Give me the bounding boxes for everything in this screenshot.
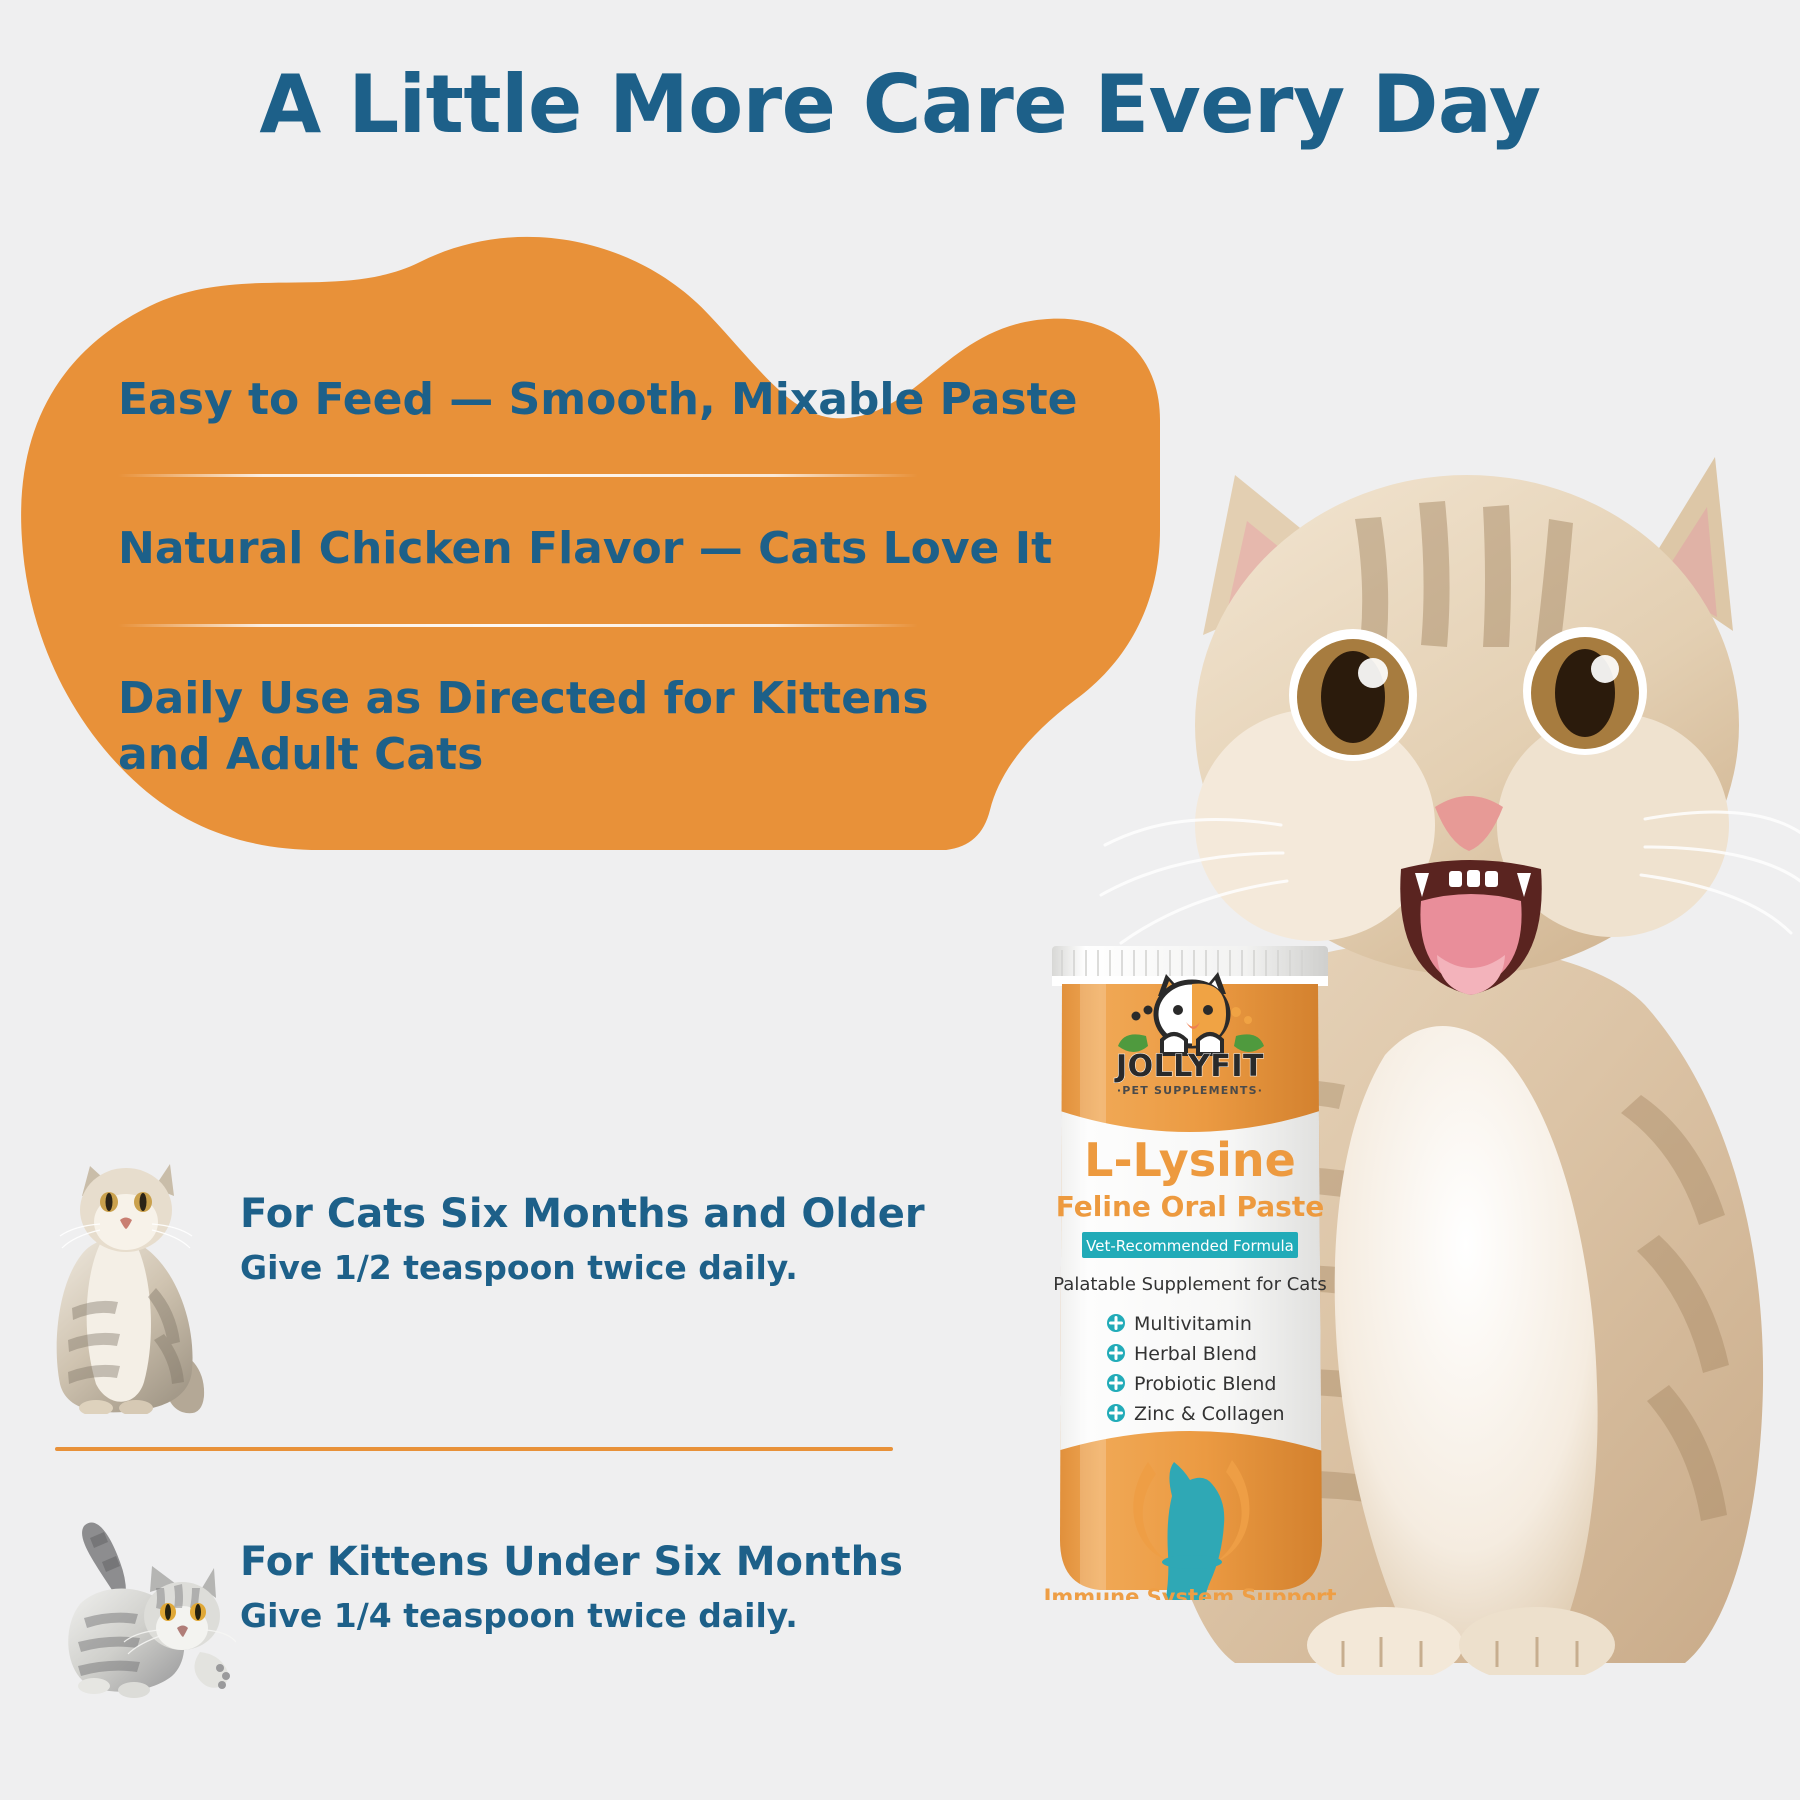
dosage-adult-title: For Cats Six Months and Older — [240, 1192, 925, 1236]
feature-plus-icon — [1107, 1314, 1125, 1332]
feature-plus-icon — [1107, 1344, 1125, 1362]
benefit-item-3: Daily Use as Directed for Kittens and Ad… — [118, 671, 1078, 784]
product-name: L-Lysine — [1084, 1133, 1296, 1187]
product-claim: Immune System Support — [1044, 1585, 1337, 1600]
product-tube: JOLLYFIT ·PET SUPPLEMENTS· L-Lysine Feli… — [1040, 940, 1340, 1600]
dosage-kitten-instruction: Give 1/4 teaspoon twice daily. — [240, 1598, 903, 1634]
brand-name: JOLLYFIT — [1114, 1049, 1264, 1084]
dosage-kitten-block: For Kittens Under Six Months Give 1/4 te… — [240, 1540, 903, 1634]
benefit-list: Easy to Feed — Smooth, Mixable Paste Nat… — [118, 372, 1078, 783]
dosage-adult-block: For Cats Six Months and Older Give 1/2 t… — [240, 1192, 925, 1286]
feature-label-1: Multivitamin — [1134, 1313, 1252, 1335]
infographic-canvas: A Little More Care Every Day Easy to Fee… — [0, 0, 1800, 1800]
benefit-divider-2 — [118, 624, 918, 627]
benefit-divider-1 — [118, 474, 918, 477]
feature-plus-icon — [1107, 1404, 1125, 1422]
benefit-item-1: Easy to Feed — Smooth, Mixable Paste — [118, 372, 1078, 428]
brand-tagline: ·PET SUPPLEMENTS· — [1117, 1084, 1263, 1097]
adult-cat-photo — [38, 1158, 214, 1414]
feature-label-2: Herbal Blend — [1134, 1343, 1257, 1365]
vet-badge-label: Vet-Recommended Formula — [1086, 1237, 1294, 1255]
benefit-item-2: Natural Chicken Flavor — Cats Love It — [118, 521, 1078, 577]
feature-label-3: Probiotic Blend — [1134, 1373, 1276, 1395]
dosage-adult-instruction: Give 1/2 teaspoon twice daily. — [240, 1250, 925, 1286]
product-descriptor: Palatable Supplement for Cats — [1053, 1274, 1326, 1295]
feature-plus-icon — [1107, 1374, 1125, 1392]
feature-label-4: Zinc & Collagen — [1134, 1403, 1285, 1425]
product-subtitle: Feline Oral Paste — [1056, 1190, 1324, 1223]
kitten-photo — [54, 1518, 236, 1698]
dosage-divider — [55, 1447, 893, 1451]
dosage-kitten-title: For Kittens Under Six Months — [240, 1540, 903, 1584]
page-title: A Little More Care Every Day — [0, 58, 1800, 151]
